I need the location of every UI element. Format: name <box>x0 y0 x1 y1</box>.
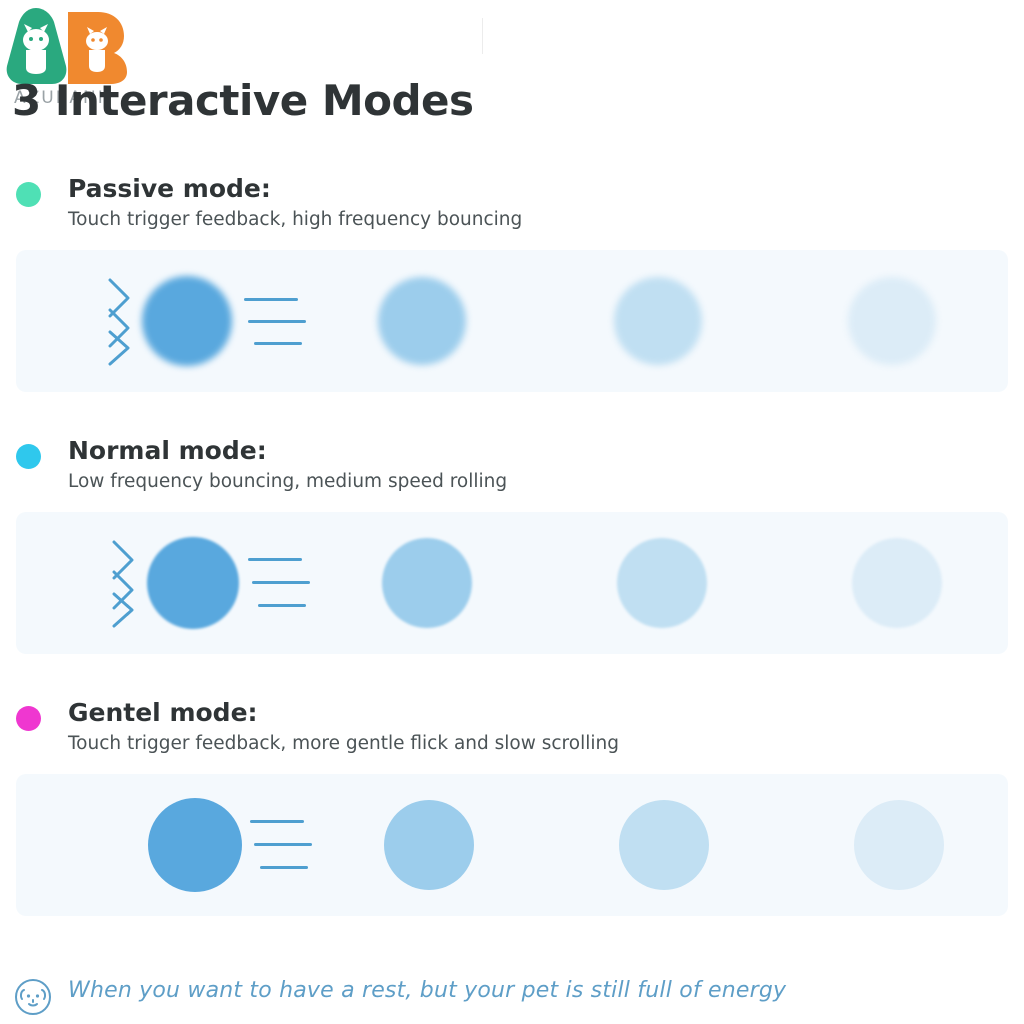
mode-description: Touch trigger feedback, more gentle flic… <box>68 733 619 754</box>
mode-title: Passive mode: <box>68 174 271 203</box>
ball-4 <box>848 277 936 365</box>
speed-lines-icon <box>244 286 308 356</box>
ball-3 <box>617 538 707 628</box>
ball-3 <box>619 800 709 890</box>
mode-header: Passive mode: Touch trigger feedback, hi… <box>0 174 1024 250</box>
mode-bullet-dot <box>16 706 41 731</box>
motion-chevrons-icon <box>108 538 142 628</box>
ball-1 <box>147 537 239 629</box>
mode-section-passive: Passive mode: Touch trigger feedback, hi… <box>0 174 1024 392</box>
ball-1 <box>142 276 232 366</box>
cat-logo-icon <box>6 6 131 86</box>
mode-animation-strip <box>16 774 1008 916</box>
mode-header: Gentel mode: Touch trigger feedback, mor… <box>0 698 1024 774</box>
ball-2 <box>384 800 474 890</box>
mode-description: Low frequency bouncing, medium speed rol… <box>68 471 507 492</box>
ball-1 <box>148 798 242 892</box>
page-title: 3 Interactive Modes <box>12 76 474 125</box>
mode-bullet-dot <box>16 444 41 469</box>
mode-title: Normal mode: <box>68 436 267 465</box>
footer-note: When you want to have a rest, but your p… <box>0 970 1024 1024</box>
ball-2 <box>382 538 472 628</box>
mode-description: Touch trigger feedback, high frequency b… <box>68 209 522 230</box>
ball-3 <box>614 277 702 365</box>
mode-section-gentel: Gentel mode: Touch trigger feedback, mor… <box>0 698 1024 916</box>
mode-header: Normal mode: Low frequency bouncing, med… <box>0 436 1024 512</box>
dog-face-icon <box>14 978 52 1016</box>
ball-2 <box>378 277 466 365</box>
footer-note-text: When you want to have a rest, but your p… <box>68 978 786 1003</box>
mode-section-normal: Normal mode: Low frequency bouncing, med… <box>0 436 1024 654</box>
ball-4 <box>852 538 942 628</box>
mode-animation-strip <box>16 250 1008 392</box>
speed-lines-icon <box>250 810 314 880</box>
mode-animation-strip <box>16 512 1008 654</box>
mode-title: Gentel mode: <box>68 698 258 727</box>
mode-bullet-dot <box>16 182 41 207</box>
motion-chevrons-icon <box>104 276 138 366</box>
ball-4 <box>854 800 944 890</box>
speed-lines-icon <box>248 548 312 618</box>
divider-artifact <box>482 18 483 54</box>
